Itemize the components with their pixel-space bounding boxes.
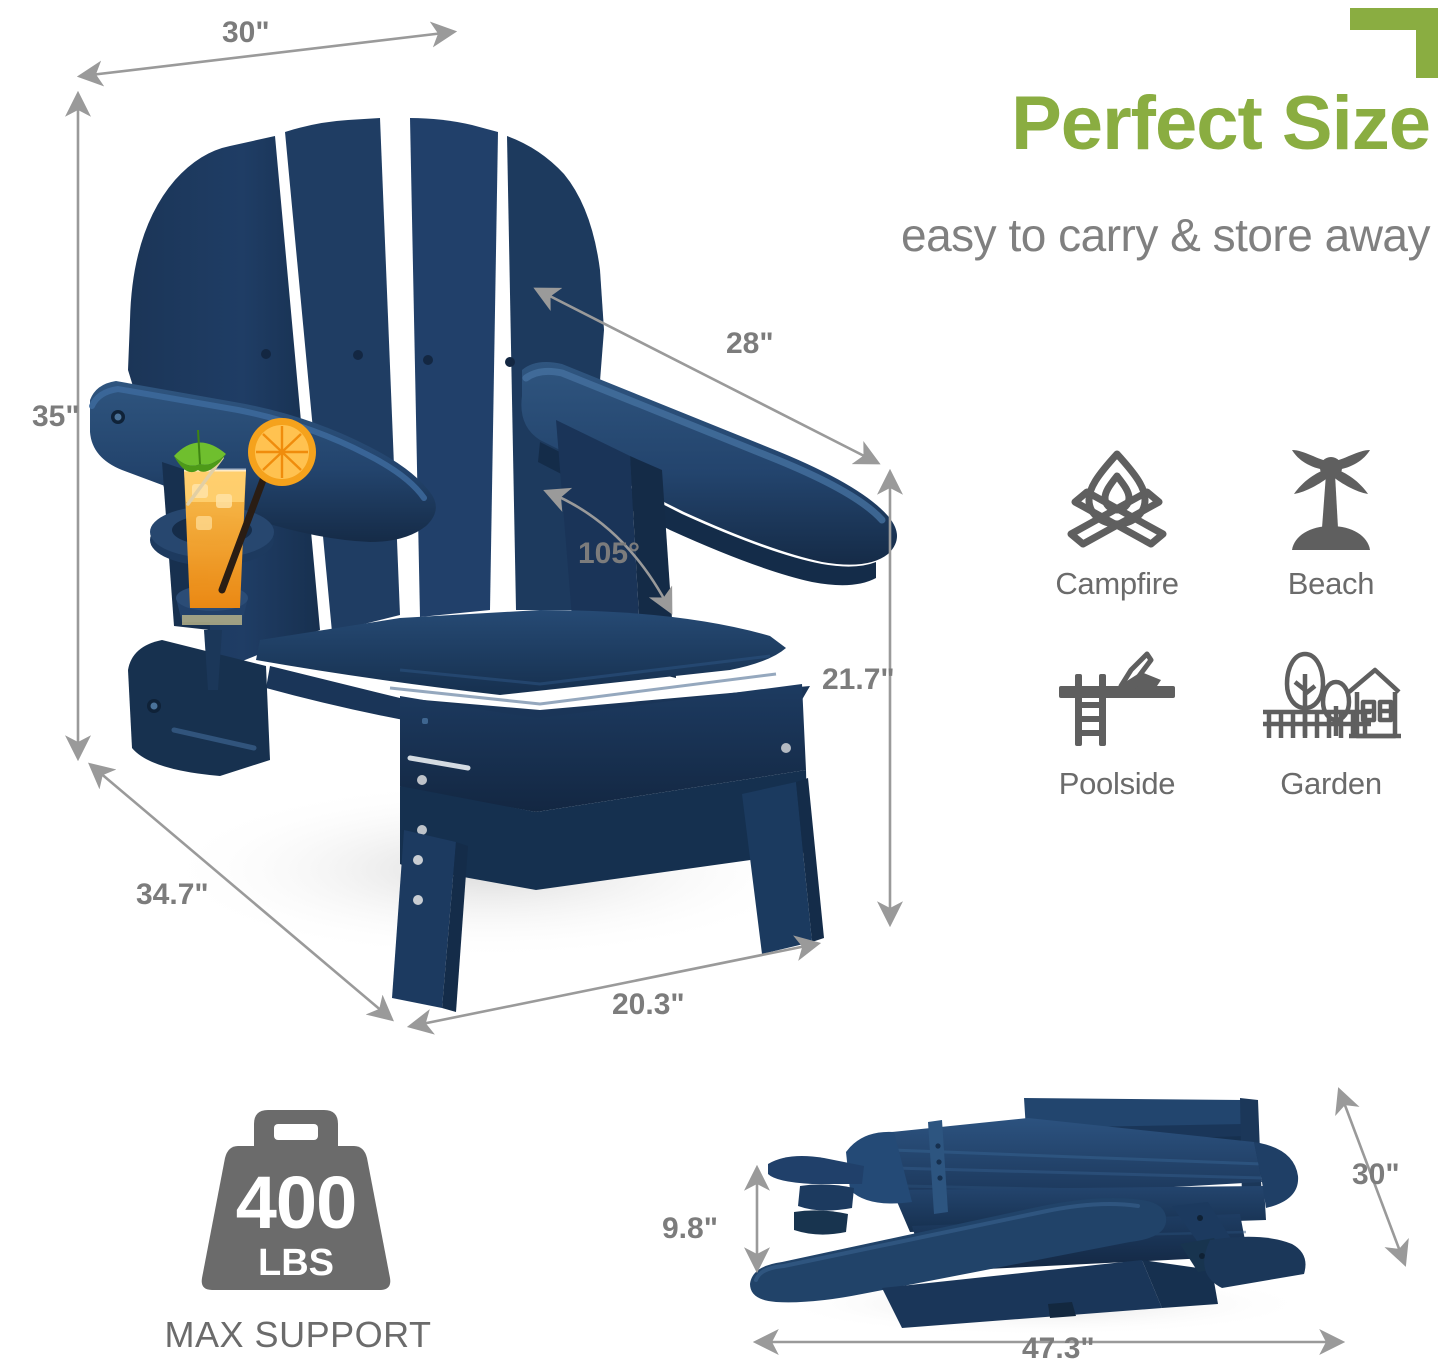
weight-value: 400 <box>196 1166 396 1240</box>
campfire-icon <box>1061 440 1173 560</box>
infographic-canvas: Perfect Size easy to carry & store away <box>0 0 1438 1370</box>
corner-bracket-decoration <box>1350 8 1438 78</box>
dimension-label-folded-length: 47.3" <box>1022 1332 1095 1366</box>
feature-label: Beach <box>1288 566 1374 602</box>
page-title: Perfect Size <box>1011 86 1430 162</box>
max-support-caption: MAX SUPPORT <box>148 1314 448 1356</box>
dimension-label-folded-depth: 30" <box>1352 1158 1400 1192</box>
dimension-label-top-width: 30" <box>222 16 270 50</box>
dimension-label-folded-height: 9.8" <box>662 1212 718 1246</box>
feature-item-campfire: Campfire <box>1010 440 1224 640</box>
garden-house-icon <box>1261 640 1401 760</box>
max-weight-badge: 400 LBS <box>196 1108 396 1298</box>
feature-item-poolside: Poolside <box>1010 640 1224 840</box>
palm-tree-icon <box>1278 440 1384 560</box>
weight-unit: LBS <box>196 1244 396 1282</box>
folded-chair-dimension-lines <box>640 1080 1438 1370</box>
dimension-label-armrest-height: 21.7" <box>822 663 895 697</box>
dimension-label-seat-width: 20.3" <box>612 988 685 1022</box>
feature-item-garden: Garden <box>1224 640 1438 840</box>
page-subtitle: easy to carry & store away <box>901 212 1430 258</box>
dimension-line-armrest <box>538 290 876 462</box>
feature-label: Poolside <box>1059 766 1176 802</box>
dimension-label-armrest: 28" <box>726 327 774 361</box>
dimension-label-height: 35" <box>32 400 80 434</box>
bracket-vertical-bar <box>1416 8 1438 78</box>
dimension-label-depth: 34.7" <box>136 878 209 912</box>
use-case-feature-grid: Campfire Beach <box>1010 440 1438 840</box>
pool-ladder-icon <box>1057 640 1177 760</box>
feature-label: Campfire <box>1055 566 1178 602</box>
dimension-label-back-angle: 105° <box>578 537 640 571</box>
feature-label: Garden <box>1280 766 1382 802</box>
feature-item-beach: Beach <box>1224 440 1438 640</box>
